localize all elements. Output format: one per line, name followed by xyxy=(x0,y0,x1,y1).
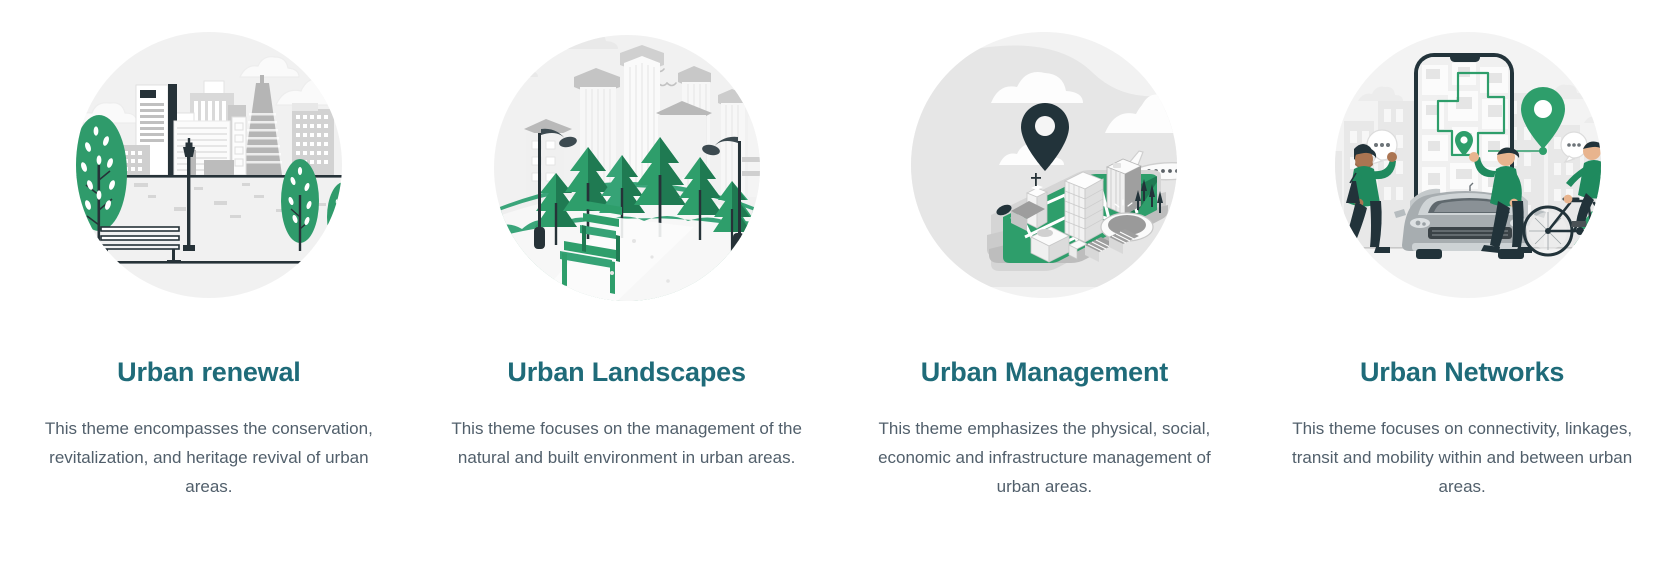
theme-card-urban-renewal[interactable]: Urban renewal This theme encompasses the… xyxy=(0,0,418,561)
themes-row: Urban renewal This theme encompasses the… xyxy=(0,0,1671,561)
park-trees-bench-skyline-illustration xyxy=(462,5,792,335)
illustration-city-skyline-park-bench xyxy=(26,0,392,340)
theme-title: Urban Networks xyxy=(1360,358,1564,388)
theme-card-urban-landscapes[interactable]: Urban Landscapes This theme focuses on t… xyxy=(418,0,836,561)
illustration-tablet-city-map xyxy=(862,0,1228,340)
theme-title: Urban Landscapes xyxy=(507,358,745,388)
theme-card-urban-networks[interactable]: Urban Networks This theme focuses on con… xyxy=(1253,0,1671,561)
theme-description: This theme encompasses the conservation,… xyxy=(26,414,392,502)
theme-description: This theme focuses on the management of … xyxy=(451,414,803,472)
theme-description: This theme emphasizes the physical, soci… xyxy=(862,414,1228,502)
city-skyline-park-bench-illustration xyxy=(44,5,374,335)
theme-description: This theme focuses on connectivity, link… xyxy=(1279,414,1645,502)
illustration-mobility-phone-map-car-bike xyxy=(1279,0,1645,340)
theme-card-urban-management[interactable]: Urban Management This theme emphasizes t… xyxy=(836,0,1254,561)
theme-title: Urban renewal xyxy=(117,358,300,388)
mobility-phone-map-car-bike-illustration xyxy=(1292,5,1632,335)
illustration-park-trees-bench-skyline xyxy=(444,0,810,340)
tablet-city-map-pin-plane-illustration xyxy=(879,5,1209,335)
theme-title: Urban Management xyxy=(921,358,1168,388)
